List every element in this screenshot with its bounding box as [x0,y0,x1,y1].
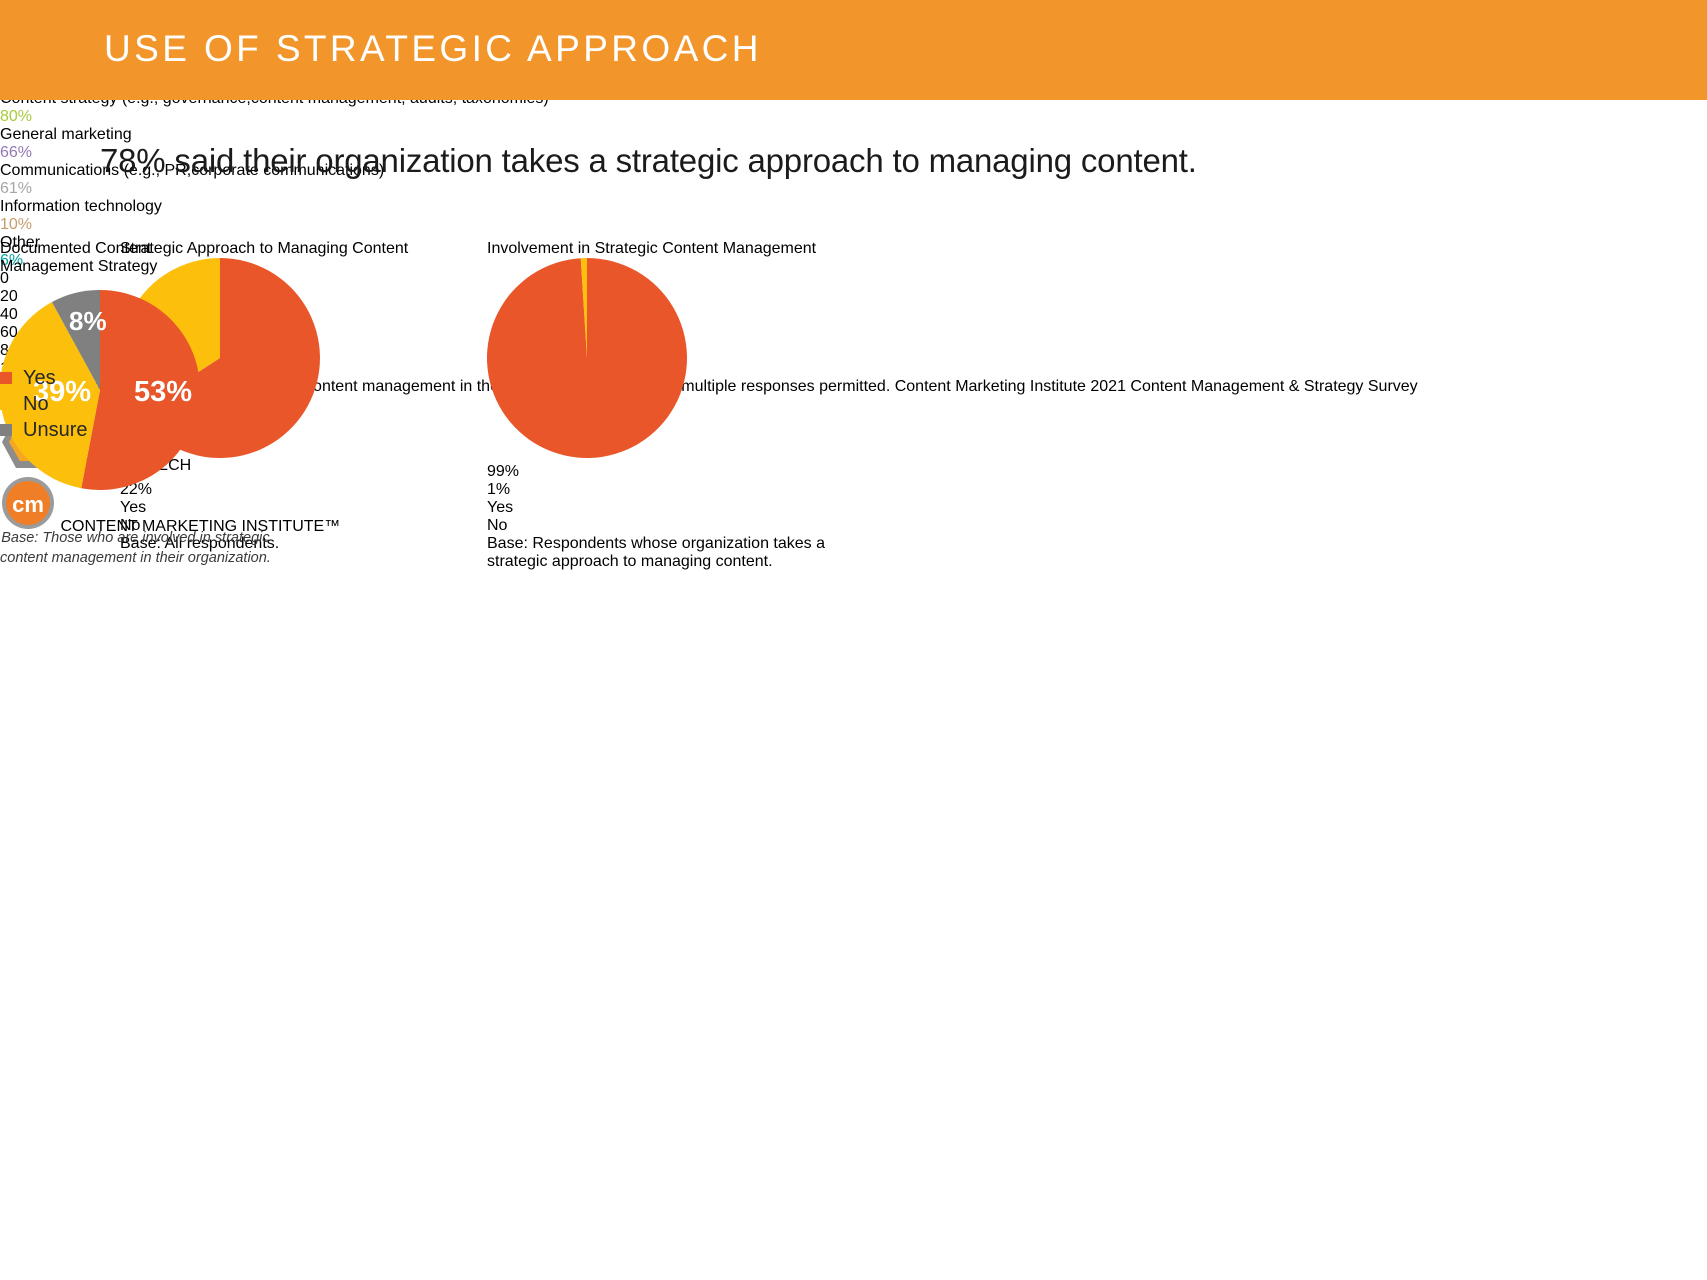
pie-title-2: Involvement in Strategic Content Managem… [487,240,907,258]
pie-title-2-line1: Involvement in Strategic [487,240,658,257]
pie-base-note-2-line2: strategic approach to managing content. [487,553,773,570]
legend-label: Yes [23,365,56,391]
legend-label: No [487,517,507,534]
bar-value-label: 80% [0,108,1707,126]
pie-title-3: Documented Content Management Strategy [0,240,271,276]
bar-value-label: 10% [0,216,1707,234]
bar-track: 80% [0,108,1707,126]
legend-label: Unsure [23,417,87,443]
pie-base-note-3-line1: Base: Those who are involved in strategi… [1,530,269,546]
pie-base-note-3: Base: Those who are involved in strategi… [0,528,271,568]
pie-block-involvement: Involvement in Strategic Content Managem… [487,240,907,571]
pie-base-note-2-line1: Base: Respondents whose organization tak… [487,535,825,552]
bar-category-label: Information technology [0,198,1707,216]
bar-track: 61% [0,180,1707,198]
legend-swatch-icon [0,398,12,410]
legend-label: No [23,391,49,417]
legend-item-no[interactable]: No [0,391,87,417]
bar-category-line1: Information technology [0,198,162,215]
pie-slice-label-2-no: 1% [487,481,907,499]
page-title: USE OF STRATEGIC APPROACH [104,28,762,70]
legend-swatch-icon [0,372,12,384]
legend-item-yes[interactable]: Yes [0,365,87,391]
bar-value-label: 61% [0,180,1707,198]
pie-slice-label-2-yes: 99% [487,463,907,481]
pie-slice-label-3-yes: 53% [134,376,192,409]
legend-item-yes[interactable]: Yes [487,499,907,517]
bar-row: Information technology10% [0,198,1707,234]
bar-track: 10% [0,216,1707,234]
pie-canvas-3: 53% 39% 8% Yes No Unsure [0,290,271,520]
slide-root: USE OF STRATEGIC APPROACH 78% said their… [0,0,1707,1280]
pie-chart-2 [487,258,687,458]
pie-title-1-line2: to Managing Content [260,240,409,257]
pie-canvas-2: 99% 1% Yes No [487,258,907,535]
pie-title-2-line2: Content Management [662,240,816,257]
legend-swatch-icon [0,424,12,436]
subtitle-statement: 78% said their organization takes a stra… [100,142,1197,180]
bar-category-line1: General marketing [0,126,132,143]
pie-base-note-2: Base: Respondents whose organization tak… [487,535,907,571]
legend-item-no[interactable]: No [487,517,907,535]
pie-legend-3: Yes No Unsure [0,365,87,443]
pie-legend-2: Yes No [487,499,907,535]
pie-block-documented-strategy: Documented Content Management Strategy 5… [0,240,271,568]
pie-title-3-line1: Documented Content [0,240,151,257]
pie-slice-label-3-unsure: 8% [69,306,107,337]
legend-item-unsure[interactable]: Unsure [0,417,87,443]
pie-base-note-3-line2: content management in their organization… [0,550,271,566]
legend-label: Yes [487,499,513,516]
pie-title-3-line2: Management Strategy [0,258,271,276]
